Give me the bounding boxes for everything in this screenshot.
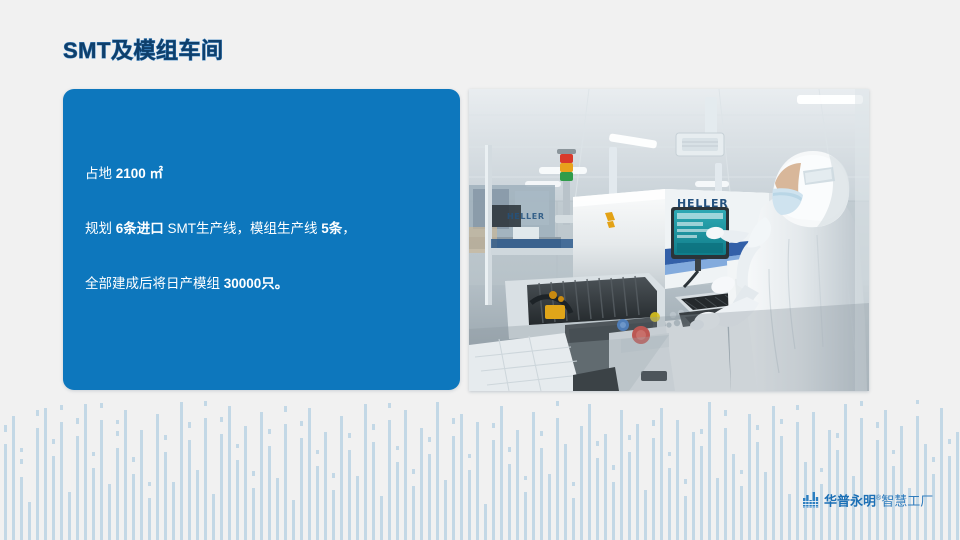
decorative-bar (4, 444, 7, 540)
decorative-bar-segment (628, 435, 631, 440)
decorative-bar (540, 448, 543, 540)
decorative-bar-segment (668, 452, 671, 456)
decorative-bar (12, 416, 15, 540)
decorative-bar (300, 438, 303, 540)
decorative-bar-segment (236, 444, 239, 448)
line-area: 占地 2100 ㎡ (85, 165, 446, 183)
decorative-bar (172, 482, 175, 540)
decorative-bar (404, 410, 407, 540)
decorative-bar (644, 490, 647, 540)
decorative-bar-segment (116, 431, 119, 436)
decorative-bar (28, 502, 31, 540)
decorative-bar-segment (20, 459, 23, 464)
decorative-bar (572, 498, 575, 540)
decorative-bar (60, 422, 63, 540)
decorative-bar (596, 458, 599, 540)
decorative-bar (284, 424, 287, 540)
decorative-bar (228, 406, 231, 540)
decorative-bar (516, 430, 519, 540)
decorative-bar (652, 438, 655, 540)
decorative-bar (372, 442, 375, 540)
decorative-bar (164, 452, 167, 540)
decorative-bar (108, 484, 111, 540)
decorative-bar (948, 456, 951, 540)
decorative-bar (420, 428, 423, 540)
decorative-bar (436, 402, 439, 540)
brand-name-main: 华普永明 (824, 493, 876, 508)
info-panel: 占地 2100 ㎡规划 6条进口 SMT生产线，模组生产线 5条，全部建成后将日… (63, 89, 460, 390)
decorative-bar (460, 414, 463, 540)
brand-name: 华普永明®智慧工厂 (824, 491, 933, 508)
decorative-bar (20, 477, 23, 540)
decorative-bar (84, 404, 87, 540)
decorative-bar (860, 418, 863, 540)
decorative-bar-segment (348, 433, 351, 438)
decorative-bar (676, 420, 679, 540)
decorative-bar (276, 478, 279, 540)
brand-logo: 华普永明®智慧工厂 (803, 488, 933, 508)
decorative-bar (428, 454, 431, 540)
decorative-bar (492, 440, 495, 540)
decorative-bar (204, 418, 207, 540)
decorative-bar-segment (164, 435, 167, 440)
decorative-bar (252, 488, 255, 540)
decorative-bar-segment (300, 421, 303, 426)
decorative-bar (220, 434, 223, 540)
decorative-bar (612, 482, 615, 540)
line-output: 全部建成后将日产模组 30000只。 (85, 275, 446, 293)
decorative-bar (588, 404, 591, 540)
decorative-bar (180, 402, 183, 540)
decorative-bar-segment (540, 431, 543, 436)
decorative-bar (828, 430, 831, 540)
decorative-bar (196, 470, 199, 540)
decorative-bar (124, 410, 127, 540)
decorative-bar-segment (188, 422, 191, 428)
decorative-bar (452, 436, 455, 540)
decorative-bar-segment (76, 418, 79, 424)
decorative-bar (780, 436, 783, 540)
decorative-bar (716, 478, 719, 540)
decorative-bar-segment (724, 410, 727, 416)
decorative-bar-segment (652, 420, 655, 426)
decorative-bar (444, 480, 447, 540)
decorative-bar-segment (700, 429, 703, 434)
decorative-bar-segment (52, 439, 55, 444)
decorative-bar-segment (492, 423, 495, 428)
huapu-grid-bars-logo-icon (803, 492, 820, 508)
decorative-bar (844, 404, 847, 540)
decorative-bar (364, 404, 367, 540)
decorative-bar (132, 474, 135, 540)
decorative-bar-segment (148, 482, 151, 486)
line-lines: 规划 6条进口 SMT生产线，模组生产线 5条， (85, 220, 446, 238)
decorative-bar-segment (116, 420, 119, 424)
decorative-bar-segment (836, 433, 839, 438)
decorative-bar (940, 408, 943, 540)
decorative-bar-segment (524, 476, 527, 480)
decorative-bar (68, 492, 71, 540)
decorative-bar (636, 424, 639, 540)
decorative-bar (916, 416, 919, 540)
decorative-bar (324, 432, 327, 540)
decorative-bar-band (0, 398, 960, 540)
decorative-bar (156, 414, 159, 540)
brand-name-suffix: 智慧工厂 (881, 493, 933, 508)
decorative-bar-segment (100, 403, 103, 408)
decorative-bar (620, 410, 623, 540)
decorative-bar-segment (36, 410, 39, 416)
decorative-bar (380, 496, 383, 540)
decorative-bar (740, 486, 743, 540)
decorative-bar-segment (220, 417, 223, 422)
decorative-bar (900, 426, 903, 540)
decorative-bar-segment (268, 429, 271, 434)
decorative-bar (292, 500, 295, 540)
decorative-bar (500, 406, 503, 540)
decorative-bar-segment (396, 446, 399, 450)
decorative-bar-segment (252, 471, 255, 476)
decorative-bar-segment (756, 425, 759, 430)
slide-root: SMT及模组车间 占地 2100 ㎡规划 6条进口 SMT生产线，模组生产线 5… (0, 0, 960, 540)
decorative-bar (244, 426, 247, 540)
decorative-bar-segment (572, 482, 575, 486)
smt-cleanroom-photo: HELLER (469, 89, 869, 391)
decorative-bar (36, 428, 39, 540)
decorative-bar (556, 418, 559, 540)
decorative-bar-segment (412, 469, 415, 474)
decorative-bar-segment (60, 405, 63, 410)
decorative-bar (532, 412, 535, 540)
page-title: SMT及模组车间 (63, 33, 223, 65)
decorative-bar-segment (452, 418, 455, 424)
decorative-bar (796, 422, 799, 540)
decorative-bar-segment (204, 401, 207, 406)
decorative-bar (116, 448, 119, 540)
decorative-bar (316, 466, 319, 540)
decorative-bar-segment (20, 448, 23, 452)
decorative-bar-segment (508, 447, 511, 452)
decorative-bar (76, 436, 79, 540)
decorative-bar (388, 420, 391, 540)
decorative-bar (700, 446, 703, 540)
decorative-bar (92, 468, 95, 540)
decorative-bar (724, 428, 727, 540)
decorative-bar (412, 486, 415, 540)
decorative-bar (340, 416, 343, 540)
decorative-bar (660, 408, 663, 540)
decorative-bar-segment (932, 457, 935, 462)
info-text-block: 占地 2100 ㎡规划 6条进口 SMT生产线，模组生产线 5条，全部建成后将日… (85, 165, 446, 294)
decorative-bar (332, 490, 335, 540)
decorative-bar (44, 408, 47, 540)
decorative-bar-segment (796, 405, 799, 410)
decorative-bar-segment (372, 424, 375, 430)
decorative-bar-segment (92, 452, 95, 456)
svg-text:HELLER: HELLER (507, 212, 545, 221)
decorative-bar (580, 426, 583, 540)
decorative-bar-segment (612, 465, 615, 470)
decorative-bar (548, 474, 551, 540)
decorative-bar-segment (780, 419, 783, 424)
decorative-bar (604, 434, 607, 540)
decorative-bar (564, 444, 567, 540)
decorative-bar (772, 406, 775, 540)
decorative-bar (260, 412, 263, 540)
decorative-bar-segment (132, 457, 135, 462)
decorative-bar (708, 402, 711, 540)
decorative-bar (100, 420, 103, 540)
decorative-bar (748, 414, 751, 540)
decorative-bar (484, 504, 487, 540)
decorative-bar (812, 412, 815, 540)
decorative-bar-segment (892, 450, 895, 454)
decorative-bar (524, 492, 527, 540)
decorative-bar (764, 472, 767, 540)
decorative-bar-segment (684, 479, 687, 484)
decorative-bar-segment (428, 437, 431, 442)
decorative-bar-segment (468, 454, 471, 458)
decorative-bar-segment (876, 422, 879, 428)
decorative-bar (348, 450, 351, 540)
decorative-bar-segment (556, 401, 559, 406)
decorative-bar-segment (316, 450, 319, 454)
decorative-bar (148, 498, 151, 540)
decorative-bar (356, 476, 359, 540)
decorative-bar-segment (4, 425, 7, 432)
decorative-bar (684, 496, 687, 540)
decorative-bar (396, 462, 399, 540)
decorative-bar (852, 476, 855, 540)
decorative-bar-segment (596, 441, 599, 446)
decorative-bar (788, 494, 791, 540)
decorative-bar-segment (740, 470, 743, 474)
decorative-bar (468, 470, 471, 540)
decorative-bar-segment (284, 406, 287, 412)
decorative-bar-segment (388, 403, 391, 408)
decorative-bar (668, 468, 671, 540)
decorative-bar (476, 422, 479, 540)
decorative-bar (628, 452, 631, 540)
decorative-bar (268, 446, 271, 540)
decorative-bar (732, 454, 735, 540)
decorative-bar (508, 464, 511, 540)
decorative-bar (188, 440, 191, 540)
decorative-bar-segment (332, 473, 335, 478)
decorative-bar-segment (916, 400, 919, 404)
decorative-bar (212, 494, 215, 540)
decorative-bar (52, 456, 55, 540)
decorative-bar-segment (860, 401, 863, 406)
decorative-bar (692, 432, 695, 540)
decorative-bar (140, 430, 143, 540)
decorative-bar (308, 408, 311, 540)
decorative-bar-segment (820, 468, 823, 472)
decorative-bar (884, 410, 887, 540)
decorative-bar (756, 442, 759, 540)
decorative-bar (956, 432, 959, 540)
decorative-bar (236, 460, 239, 540)
decorative-bar-segment (948, 439, 951, 444)
